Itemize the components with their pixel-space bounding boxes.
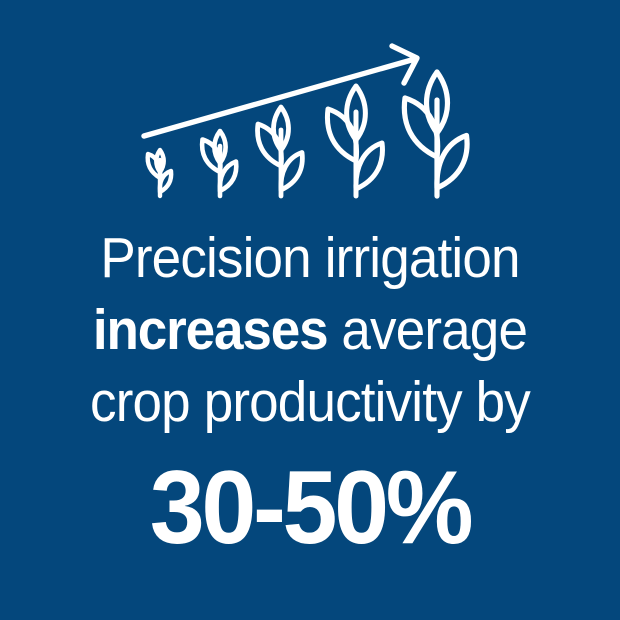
upward-trend-arrow-icon: [144, 46, 417, 136]
statement-line-2-rest: average: [327, 298, 527, 362]
headline-figure: 30-50%: [16, 454, 605, 562]
plant-stage-2: [202, 131, 236, 196]
plant-stage-1: [148, 150, 172, 196]
statement-line-1: Precision irrigation: [22, 222, 599, 294]
plant-stage-3: [258, 107, 303, 196]
plant-stage-5: [404, 72, 467, 196]
statement-emphasis-word: increases: [93, 298, 328, 362]
plant-stage-4: [327, 86, 382, 196]
statement-line-3: crop productivity by: [22, 366, 599, 438]
crop-growth-illustration: [0, 0, 620, 215]
statement-block: Precision irrigation increases average c…: [0, 222, 620, 562]
statement-line-2: increases average: [22, 294, 599, 366]
infographic-card: Precision irrigation increases average c…: [0, 0, 620, 620]
